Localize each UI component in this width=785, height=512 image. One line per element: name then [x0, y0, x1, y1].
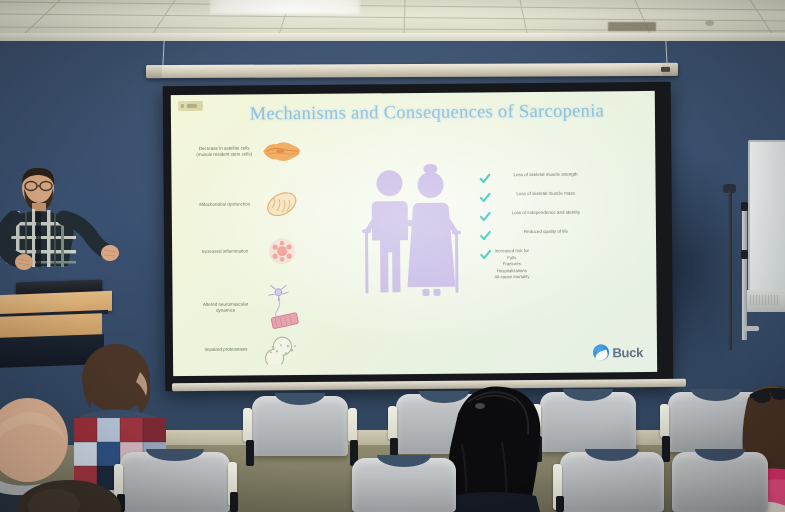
chair[interactable]	[352, 458, 456, 512]
chair-leg	[230, 492, 238, 512]
screen-pull-knob[interactable]	[661, 67, 670, 72]
chair-arm	[348, 408, 357, 442]
ceiling-light-panel	[210, 0, 360, 14]
mitochondrion-icon	[261, 189, 303, 219]
neuromuscular-junction-icon	[261, 284, 303, 330]
mechanism-label: Altered neuromuscular dynamics	[195, 301, 257, 314]
consequence-text: Reduced quality of life	[494, 228, 598, 236]
microphone-stand	[728, 190, 732, 350]
buck-logo-text: Buck	[612, 345, 643, 360]
chair[interactable]	[672, 452, 768, 512]
whiteboard-clamp-icon[interactable]	[741, 202, 748, 211]
mechanism-row-proteostasis: Impaired proteostasis	[195, 334, 304, 365]
mechanism-label: Increased inflammation	[194, 248, 256, 255]
mobile-whiteboard	[742, 140, 785, 340]
projection-screen-housing	[146, 63, 678, 78]
whiteboard-tray	[746, 290, 785, 312]
check-icon	[479, 173, 490, 184]
consequence-item: Loss of skeletal muscle strength	[479, 171, 597, 184]
consequence-item: Loss of skeletal muscle mass	[480, 190, 598, 203]
elderly-couple-silhouette	[361, 161, 462, 322]
attendee-back-row	[14, 474, 124, 512]
presentation-slide: Mechanisms and Consequences of Sarcopeni…	[171, 91, 657, 376]
check-icon	[480, 211, 491, 222]
check-icon	[480, 249, 491, 260]
chair-leg	[246, 440, 254, 466]
inflammation-burst-icon	[261, 236, 303, 266]
consequence-item: Increased risk for Falls Fractures Hospi…	[480, 247, 598, 281]
ceiling-sprinkler-icon	[705, 20, 714, 26]
slide-corner-badge	[178, 101, 203, 111]
chair-arm	[243, 408, 252, 442]
consequence-text: Loss of skeletal muscle mass	[494, 190, 598, 198]
mechanism-row-mitochondria: Mitochondrial dysfunction	[194, 189, 303, 220]
mechanism-label: Mitochondrial dysfunction	[194, 201, 256, 208]
buck-swoosh-icon	[593, 344, 609, 360]
consequence-text: Loss of skeletal muscle strength	[493, 171, 597, 179]
chair-arm	[388, 406, 397, 440]
consequence-item: Loss of independence and identity	[480, 209, 598, 222]
mechanism-row-satellite-cells: Decrease in satellite cells (muscle resi…	[193, 136, 302, 167]
chair-leg	[556, 496, 564, 512]
check-icon	[480, 192, 491, 203]
consequence-text: Loss of independence and identity	[494, 209, 598, 217]
mechanism-row-inflammation: Increased inflammation	[194, 236, 303, 267]
consequence-item: Reduced quality of life	[480, 228, 598, 241]
chair[interactable]	[252, 396, 348, 456]
muscle-fiber-icon	[260, 136, 302, 166]
mechanism-row-neuromuscular: Altered neuromuscular dynamics	[194, 284, 303, 331]
check-icon	[480, 230, 491, 241]
conference-room-photo: Mechanisms and Consequences of Sarcopeni…	[0, 0, 785, 512]
chair-arm	[660, 404, 669, 438]
projection-screen: Mechanisms and Consequences of Sarcopeni…	[163, 82, 674, 391]
consequence-text: Increased risk for	[494, 248, 529, 255]
whiteboard-post	[742, 202, 747, 340]
proteostasis-cell-icon	[262, 334, 304, 364]
mechanism-label: Impaired proteostasis	[195, 346, 257, 353]
consequences-list: Loss of skeletal muscle strength Loss of…	[479, 171, 598, 288]
consequence-sub: All-cause mortality	[494, 274, 529, 281]
chair[interactable]	[560, 452, 664, 512]
chair[interactable]	[120, 452, 230, 512]
whiteboard-surface	[748, 140, 785, 292]
ceiling-vent	[608, 22, 656, 31]
slide-title: Mechanisms and Consequences of Sarcopeni…	[227, 101, 627, 125]
whiteboard-clamp-icon[interactable]	[741, 250, 748, 259]
mechanism-label: Decrease in satellite cells (muscle resi…	[193, 145, 255, 158]
buck-logo: Buck	[593, 344, 643, 360]
